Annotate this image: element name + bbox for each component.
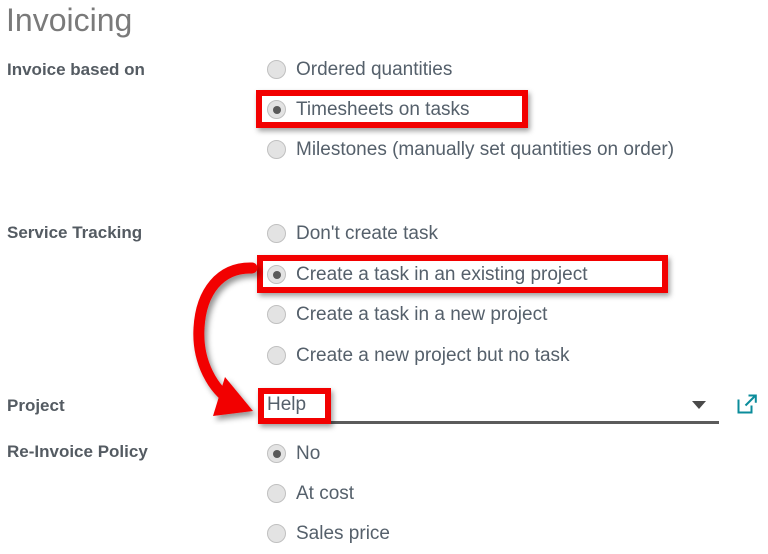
radio-label: Create a task in an existing project (296, 262, 588, 287)
radio-icon-unselected[interactable] (267, 140, 286, 159)
radio-label: Don't create task (296, 221, 438, 246)
radio-option-create-task-new-project[interactable]: Create a task in a new project (267, 302, 547, 327)
radio-label: At cost (296, 481, 354, 506)
radio-option-no[interactable]: No (267, 441, 320, 466)
radio-label: Create a task in a new project (296, 302, 547, 327)
radio-icon-unselected[interactable] (267, 484, 286, 503)
radio-option-create-task-existing-project[interactable]: Create a task in an existing project (267, 262, 588, 287)
radio-option-milestones[interactable]: Milestones (manually set quantities on o… (267, 137, 696, 162)
radio-option-ordered-quantities[interactable]: Ordered quantities (267, 57, 452, 82)
radio-icon-unselected[interactable] (267, 60, 286, 79)
radio-option-timesheets-on-tasks[interactable]: Timesheets on tasks (267, 97, 470, 122)
radio-label: Milestones (manually set quantities on o… (296, 137, 696, 162)
radio-option-create-new-project-no-task[interactable]: Create a new project but no task (267, 343, 570, 368)
radio-icon-unselected[interactable] (267, 305, 286, 324)
radio-icon-unselected[interactable] (267, 524, 286, 543)
external-link-icon[interactable] (736, 393, 758, 415)
radio-icon-selected[interactable] (267, 444, 286, 463)
radio-icon-selected[interactable] (267, 100, 286, 119)
page-title: Invoicing (6, 0, 132, 42)
radio-icon-unselected[interactable] (267, 346, 286, 365)
chevron-down-icon[interactable] (692, 401, 706, 409)
radio-label: Timesheets on tasks (296, 97, 470, 122)
radio-icon-selected[interactable] (267, 265, 286, 284)
field-label-invoice-based-on: Invoice based on (7, 60, 145, 80)
radio-option-at-cost[interactable]: At cost (267, 481, 354, 506)
input-underline (267, 421, 719, 424)
radio-label: No (296, 441, 320, 466)
field-label-service-tracking: Service Tracking (7, 223, 142, 243)
field-label-reinvoice-policy: Re-Invoice Policy (7, 442, 148, 462)
radio-label: Ordered quantities (296, 57, 452, 82)
project-selected-value: Help (267, 392, 306, 418)
invoicing-settings-panel: Invoicing Invoice based on Ordered quant… (0, 0, 768, 554)
radio-label: Sales price (296, 521, 390, 546)
radio-option-sales-price[interactable]: Sales price (267, 521, 390, 546)
radio-label: Create a new project but no task (296, 343, 570, 368)
radio-option-dont-create-task[interactable]: Don't create task (267, 221, 438, 246)
project-dropdown[interactable]: Help (267, 392, 719, 424)
field-label-project: Project (7, 396, 65, 416)
radio-icon-unselected[interactable] (267, 224, 286, 243)
